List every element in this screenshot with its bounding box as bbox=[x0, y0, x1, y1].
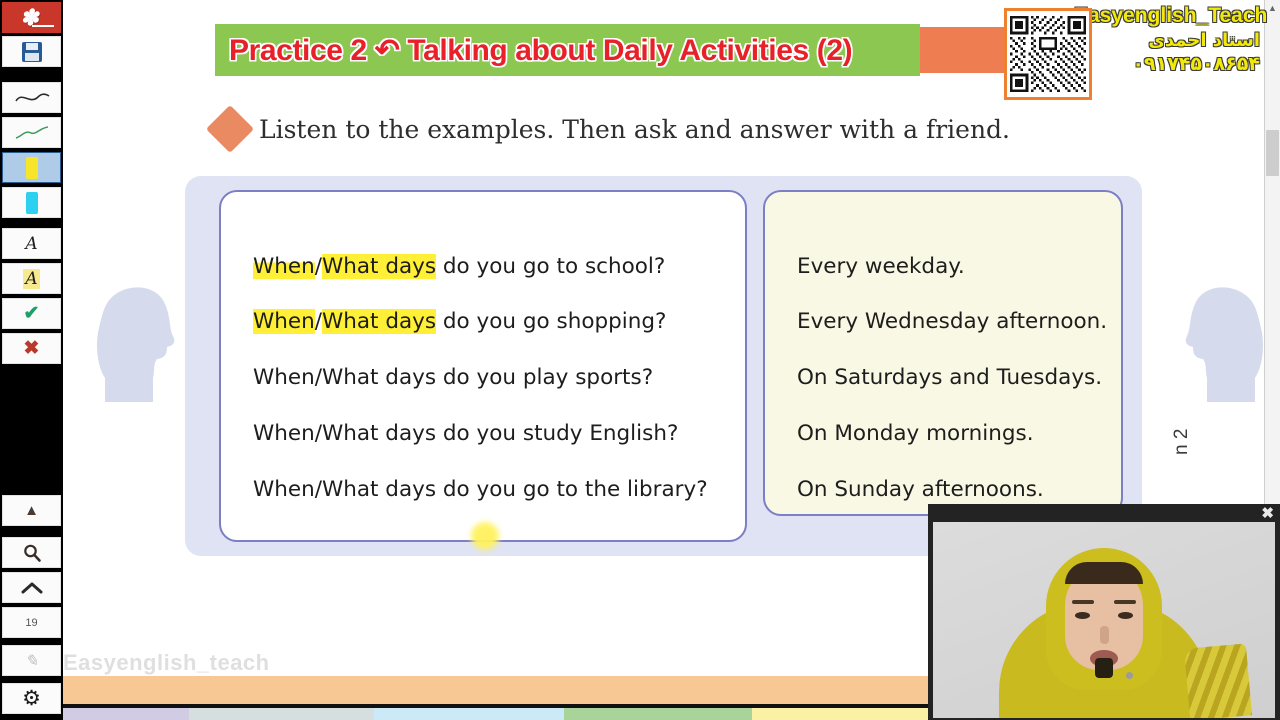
question-2-rest: do you go shopping? bbox=[436, 309, 666, 334]
text-highlight-icon: A bbox=[23, 269, 39, 289]
webcam-microphone bbox=[1126, 672, 1133, 679]
question-1-rest: do you go to school? bbox=[436, 254, 665, 279]
channel-overlay: Easyenglish_Teach استاد احمدی ۰۹۱۷۴۵۰۸۶۵… bbox=[1004, 2, 1258, 106]
instruction-text: Listen to the examples. Then ask and ans… bbox=[259, 115, 1010, 144]
text-tool[interactable]: A bbox=[2, 228, 61, 259]
pen-green-stroke-icon bbox=[12, 124, 52, 142]
logo-underline bbox=[32, 25, 54, 27]
page-up-tool[interactable] bbox=[2, 572, 61, 603]
scrollbar-thumb[interactable] bbox=[1266, 130, 1279, 176]
highlighter-cyan-tool[interactable] bbox=[2, 187, 61, 218]
teacher-name: استاد احمدی bbox=[1074, 30, 1260, 51]
scroll-up-tool[interactable]: ▲ bbox=[2, 495, 61, 526]
settings-tool[interactable]: ⚙ bbox=[2, 683, 61, 714]
unit-side-label: n 2 bbox=[1171, 429, 1193, 455]
question-line-1: When/What days do you go to school? bbox=[253, 254, 665, 279]
answer-line-4: On Monday mornings. bbox=[797, 421, 1034, 446]
answer-line-1: Every weekday. bbox=[797, 254, 965, 279]
check-icon: ✔ bbox=[24, 302, 40, 325]
webcam-video-feed bbox=[933, 522, 1275, 718]
question-1-slash: / bbox=[315, 254, 322, 279]
pen-green-tool[interactable] bbox=[2, 117, 61, 148]
examples-panel: When/What days do you go to school? When… bbox=[185, 176, 1142, 556]
annotation-toolbar: ✽ A A ✔ ✖ bbox=[0, 0, 63, 720]
diamond-bullet-icon bbox=[206, 105, 254, 153]
save-floppy-icon bbox=[22, 42, 42, 62]
instruction-row: Listen to the examples. Then ask and ans… bbox=[213, 112, 1010, 146]
triangle-up-icon: ▲ bbox=[24, 502, 39, 519]
text-cursor-icon: A bbox=[25, 234, 37, 254]
webcam-eye-left bbox=[1075, 612, 1090, 619]
speaker-head-right-icon bbox=[1177, 282, 1269, 402]
question-1-highlight-when: When bbox=[253, 254, 315, 279]
answers-box: Every weekday. Every Wednesday afternoon… bbox=[763, 190, 1123, 516]
qr-code-icon bbox=[1010, 14, 1086, 94]
speaker-head-left-icon bbox=[91, 282, 183, 402]
chevron-up-icon bbox=[21, 581, 43, 595]
zoom-tool[interactable] bbox=[2, 537, 61, 568]
highlighter-yellow-tool[interactable] bbox=[2, 152, 61, 183]
stamp-icon: ✎ bbox=[25, 651, 38, 670]
channel-name: Easyenglish_Teach bbox=[1074, 4, 1260, 28]
presentation-window: Practice 2 ↶ Talking about Daily Activit… bbox=[0, 0, 1280, 720]
webcam-collar bbox=[1095, 658, 1113, 678]
question-line-4: When/What days do you study English? bbox=[253, 421, 678, 446]
page-title: Practice 2 ↶ Talking about Daily Activit… bbox=[229, 33, 852, 68]
webcam-overlay[interactable]: ✖ bbox=[928, 504, 1280, 720]
answer-line-2: Every Wednesday afternoon. bbox=[797, 309, 1107, 334]
gear-icon: ⚙ bbox=[22, 686, 41, 711]
question-line-3: When/What days do you play sports? bbox=[253, 365, 653, 390]
pen-stroke-icon bbox=[12, 89, 52, 107]
phone-number: ۰۹۱۷۴۵۰۸۶۵۴ bbox=[1074, 53, 1260, 75]
app-logo[interactable]: ✽ bbox=[2, 2, 61, 33]
answer-line-3: On Saturdays and Tuesdays. bbox=[797, 365, 1102, 390]
title-banner: Practice 2 ↶ Talking about Daily Activit… bbox=[215, 24, 1070, 76]
channel-watermark: Easyenglish_teach bbox=[63, 650, 270, 676]
question-2-highlight-when: When bbox=[253, 309, 315, 334]
webcam-eye-right bbox=[1118, 612, 1133, 619]
webcam-nose bbox=[1100, 626, 1109, 644]
strip-cyan bbox=[374, 708, 564, 720]
stamp-tool[interactable]: ✎ bbox=[2, 645, 61, 676]
page-number-tool[interactable]: 19 bbox=[2, 607, 61, 638]
strip-lavender bbox=[63, 708, 189, 720]
text-highlight-tool[interactable]: A bbox=[2, 263, 61, 294]
strip-gray-blue bbox=[189, 708, 374, 720]
webcam-eyebrow-left bbox=[1072, 600, 1094, 604]
pen-black-tool[interactable] bbox=[2, 82, 61, 113]
cross-stamp-tool[interactable]: ✖ bbox=[2, 333, 61, 364]
strip-yellow bbox=[752, 708, 942, 720]
close-icon[interactable]: ✖ bbox=[1261, 506, 1274, 521]
question-line-5: When/What days do you go to the library? bbox=[253, 477, 708, 502]
question-line-2: When/What days do you go shopping? bbox=[253, 309, 666, 334]
banner-green-block: Practice 2 ↶ Talking about Daily Activit… bbox=[215, 24, 920, 76]
question-2-highlight-whatdays: What days bbox=[322, 309, 436, 334]
highlighter-blob-mark bbox=[471, 522, 499, 550]
search-icon bbox=[22, 543, 42, 563]
questions-box: When/What days do you go to school? When… bbox=[219, 190, 747, 542]
qr-code[interactable] bbox=[1004, 8, 1092, 100]
save-button[interactable] bbox=[2, 36, 61, 67]
highlighter-yellow-icon bbox=[26, 157, 38, 179]
question-2-slash: / bbox=[315, 309, 322, 334]
question-1-highlight-whatdays: What days bbox=[322, 254, 436, 279]
highlighter-cyan-icon bbox=[26, 192, 38, 214]
cross-icon: ✖ bbox=[24, 337, 40, 360]
webcam-hairline bbox=[1065, 562, 1143, 584]
answer-line-5: On Sunday afternoons. bbox=[797, 477, 1044, 502]
strip-green bbox=[564, 708, 752, 720]
scrollbar-up-arrow[interactable]: ▲ bbox=[1265, 0, 1280, 16]
webcam-scarf-pattern bbox=[1184, 643, 1252, 718]
page-number-label: 19 bbox=[25, 617, 37, 629]
channel-overlay-text: Easyenglish_Teach استاد احمدی ۰۹۱۷۴۵۰۸۶۵… bbox=[1074, 4, 1260, 75]
check-stamp-tool[interactable]: ✔ bbox=[2, 298, 61, 329]
webcam-eyebrow-right bbox=[1114, 600, 1136, 604]
